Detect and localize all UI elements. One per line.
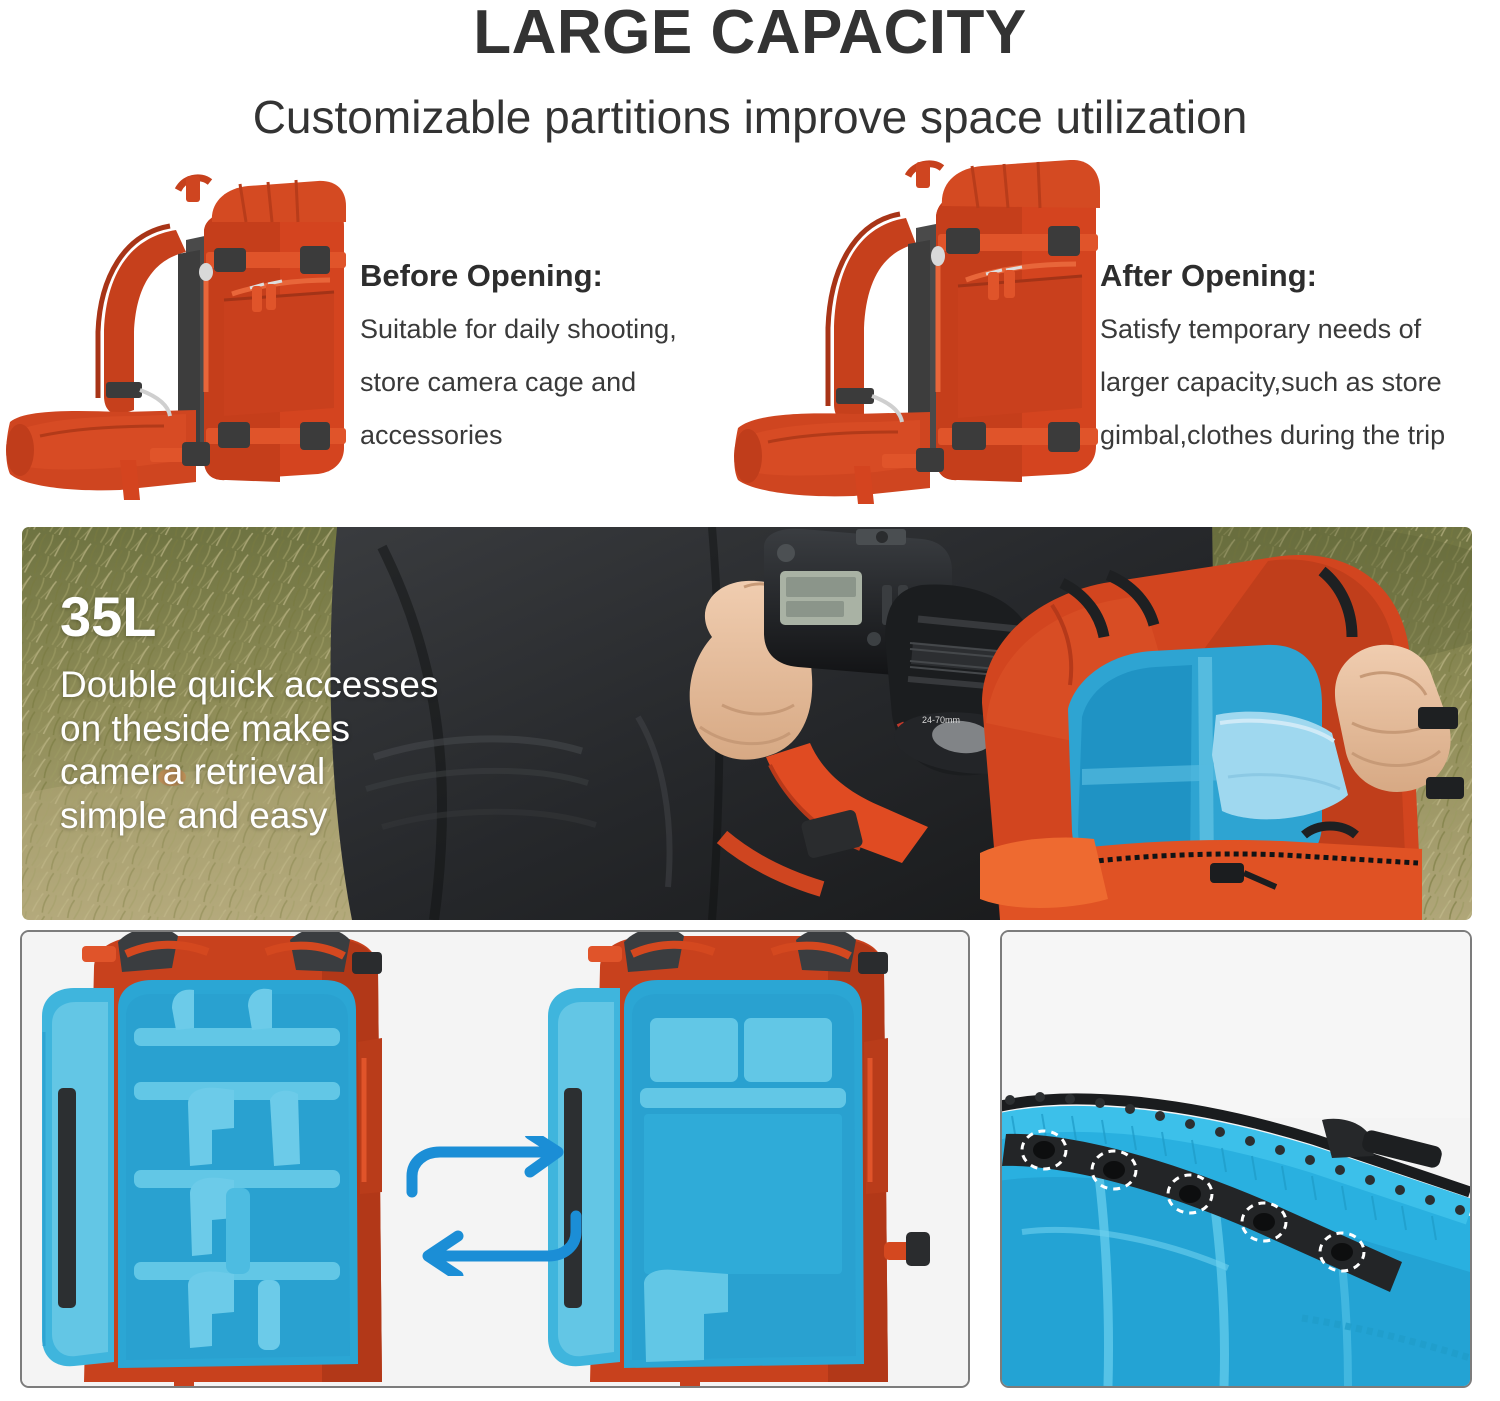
hero-line: camera retrieval — [60, 750, 438, 794]
feature-heading: Before Opening: — [360, 258, 677, 294]
feature-row: Before Opening: Suitable for daily shoot… — [0, 160, 1500, 510]
card-holes-panel: Space switching can be adjusted The insi… — [1000, 930, 1472, 1388]
feature-line: store camera cage and — [360, 369, 677, 396]
hero-line: simple and easy — [60, 794, 438, 838]
infographic-page: LARGE CAPACITY Customizable partitions i… — [0, 0, 1500, 1401]
feature-line: gimbal,clothes during the trip — [1100, 422, 1445, 449]
swap-arrows-icon — [404, 1136, 584, 1276]
feature-text-after: After Opening: Satisfy temporary needs o… — [1100, 258, 1445, 475]
page-subtitle: Customizable partitions improve space ut… — [0, 92, 1500, 143]
backpack-expanded-side-view — [730, 160, 1110, 510]
svg-text:24-70mm: 24-70mm — [922, 715, 960, 725]
hero-line: Double quick accesses — [60, 663, 438, 707]
backpack-interior-many-dividers — [42, 932, 382, 1386]
feature-line: Satisfy temporary needs of — [1100, 316, 1445, 343]
feature-text-before: Before Opening: Suitable for daily shoot… — [360, 258, 677, 475]
backpack-card-holes-closeup — [1002, 932, 1470, 1386]
backpack-interior-open-space — [548, 932, 930, 1386]
hero-overlay-text: 35L Double quick accesses on theside mak… — [60, 589, 438, 838]
hero-line: on theside makes — [60, 707, 438, 751]
hero-volume: 35L — [60, 589, 438, 645]
feature-heading: After Opening: — [1100, 258, 1445, 294]
hero-photo: 24-70mm — [22, 527, 1472, 920]
feature-line: Suitable for daily shooting, — [360, 316, 677, 343]
feature-line: larger capacity,such as store — [1100, 369, 1445, 396]
feature-line: accessories — [360, 422, 677, 449]
backpack-closed-side-view — [0, 160, 360, 510]
page-title: LARGE CAPACITY — [0, 2, 1500, 64]
